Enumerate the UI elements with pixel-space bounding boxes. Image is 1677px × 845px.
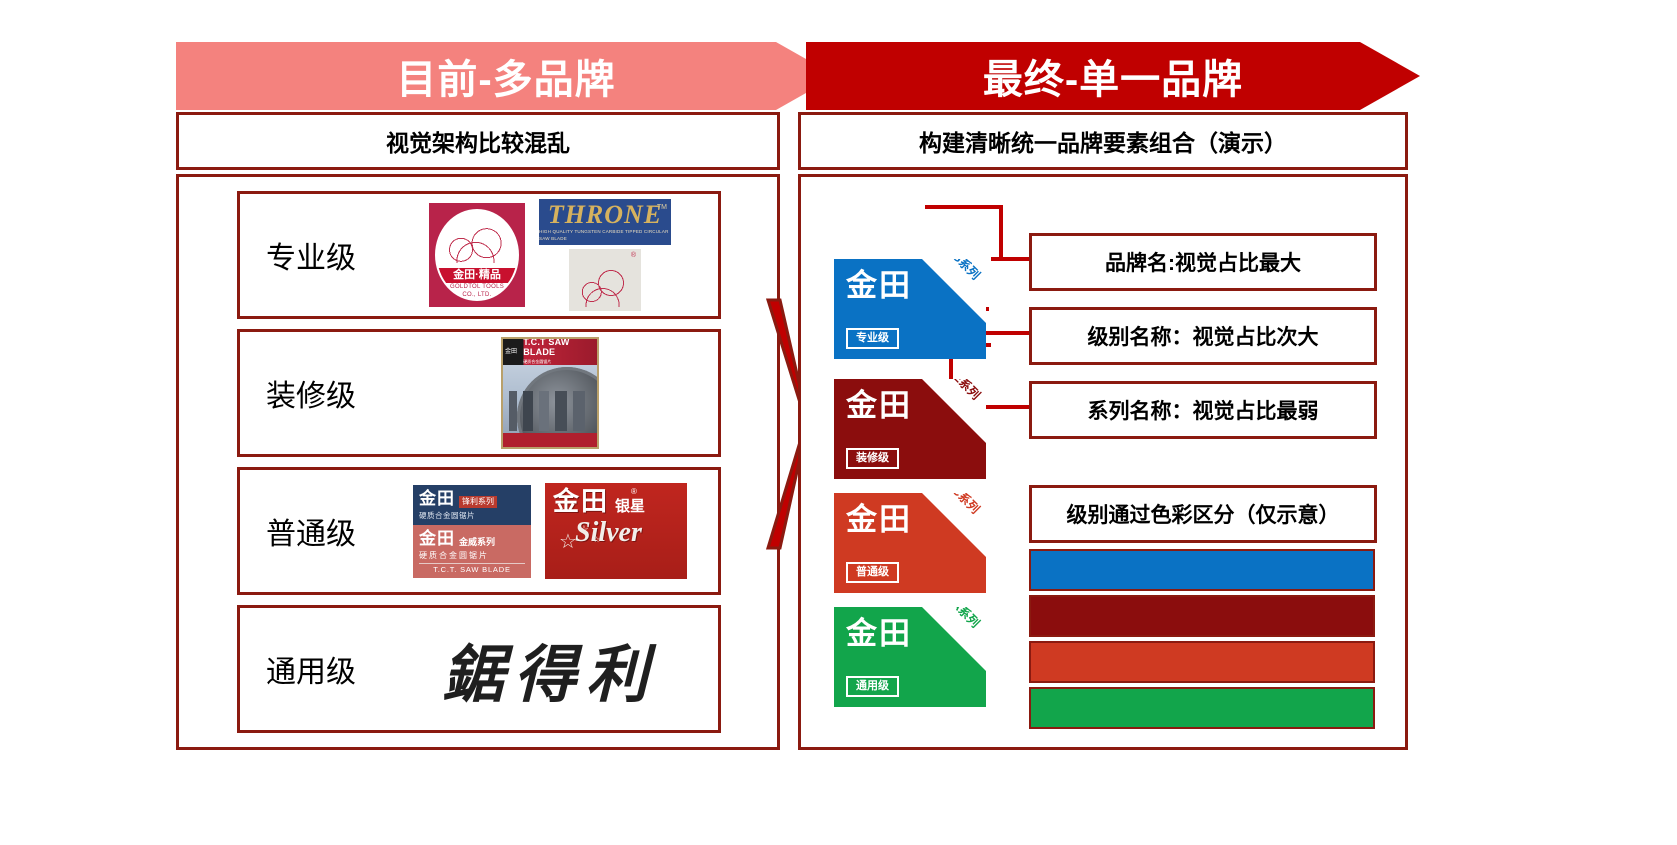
callout-series-name: 系列名称：视觉占比最弱	[1029, 381, 1377, 439]
callout-brand-name: 品牌名:视觉占比最大	[1029, 233, 1377, 291]
brand-card-standard[interactable]: YC系列 金田 普通级	[834, 493, 986, 593]
star-icon: ☆	[559, 529, 577, 554]
throne-tagline: HIGH QUALITY TUNGSTEN CARBIDE TIPPED CIR…	[539, 228, 671, 242]
jintian-blue-label-icon: 金田 锋利系列 硬质合金圆锯片	[413, 485, 531, 525]
grade-row-general: 通用级 鋸得利	[237, 605, 721, 733]
subtitle-bar-right: 构建清晰统一品牌要素组合（演示）	[798, 112, 1408, 170]
brand-card-professional[interactable]: RG系列 金田 专业级	[834, 259, 986, 359]
star-icon: ☆	[593, 535, 600, 544]
brand-card-decoration[interactable]: ZE系列 金田 装修级	[834, 379, 986, 479]
callout-grade-name: 级别名称：视觉占比次大	[1029, 307, 1377, 365]
grade-label-decoration: 装修级	[240, 371, 382, 415]
silver-mark: 金田	[553, 489, 609, 516]
callout-color-legend-title: 级别通过色彩区分（仅示意）	[1029, 485, 1377, 543]
silver-wordmark: Silver	[575, 518, 679, 548]
jintian-blue-sub: 硬质合金圆锯片	[419, 510, 525, 521]
grade-media-standard: 金田 锋利系列 硬质合金圆锯片 金田 金威系列 硬质合金圆锯片 T.C.T. S…	[382, 470, 718, 592]
banner-left-label: 目前-多品牌	[396, 47, 615, 105]
star-icon: ☆	[579, 523, 589, 536]
tct-package-cn: 金田	[503, 349, 523, 356]
goldtol-badge-icon: 金田·精品 GOLDTOL TOOLS CO., LTD.	[429, 203, 525, 307]
throne-wordmark: THRONE	[548, 202, 662, 228]
jintian-red-mark: 金田	[419, 530, 455, 548]
jintian-blue-series: 锋利系列	[459, 496, 497, 508]
tct-package-subcn: 硬质合金圆锯片	[523, 357, 597, 367]
grade-label-professional: 专业级	[240, 233, 382, 277]
brand-card-badge-general: 通用级	[846, 676, 899, 697]
silver-registered-symbol: ®	[631, 487, 637, 496]
color-legend-title-label: 级别通过色彩区分（仅示意）	[1067, 499, 1340, 529]
banner-current-multibrand: 目前-多品牌	[176, 42, 836, 110]
grade-row-standard: 普通级 金田 锋利系列 硬质合金圆锯片 金田 金威系列	[237, 467, 721, 595]
goldtol-cn-text: 金田·精品	[437, 268, 517, 283]
grade-media-professional: 金田·精品 GOLDTOL TOOLS CO., LTD. TM THRONE …	[382, 194, 718, 316]
banner-right-label: 最终-单一品牌	[983, 47, 1243, 105]
judeli-calligraphy-logo: 鋸得利	[442, 624, 658, 714]
grade-label-general: 通用级	[240, 647, 382, 691]
color-swatch-professional	[1029, 549, 1375, 591]
jintian-red-series: 金威系列	[459, 535, 495, 548]
subtitle-left-label: 视觉架构比较混乱	[386, 124, 570, 158]
wave-graphic	[437, 219, 517, 263]
callout-grade-name-label: 级别名称：视觉占比次大	[1088, 321, 1319, 351]
grade-label-standard: 普通级	[240, 509, 382, 553]
silver-logo-icon: ® 金田 银星 ☆ ☆ ☆ Silver	[545, 483, 687, 579]
throne-trademark: TM	[657, 204, 667, 211]
brand-card-badge-standard: 普通级	[846, 562, 899, 583]
grade-media-decoration: 金田 T.C.T SAW BLADE 硬质合金圆锯片	[382, 332, 718, 454]
jintian-blue-mark: 金田	[419, 490, 455, 508]
brand-card-general[interactable]: XA系列 金田 通用级	[834, 607, 986, 707]
brand-card-badge-decoration: 装修级	[846, 448, 899, 469]
jintian-label-stack: 金田 锋利系列 硬质合金圆锯片 金田 金威系列 硬质合金圆锯片 T.C.T. S…	[413, 485, 531, 578]
left-panel: 专业级 金田·精品 GOLDTOL TOOLS CO., LTD. TM THR…	[176, 174, 780, 750]
wave-mark-icon: ®	[569, 249, 641, 311]
tct-package-image: 金田 T.C.T SAW BLADE 硬质合金圆锯片	[501, 337, 599, 449]
grade-row-professional: 专业级 金田·精品 GOLDTOL TOOLS CO., LTD. TM THR…	[237, 191, 721, 319]
color-swatch-standard	[1029, 641, 1375, 683]
subtitle-bar-left: 视觉架构比较混乱	[176, 112, 780, 170]
subtitle-right-label: 构建清晰统一品牌要素组合（演示）	[919, 124, 1287, 158]
city-skyline-graphic	[503, 391, 597, 431]
silver-cn-series: 银星	[615, 498, 645, 516]
wave-registered-symbol: ®	[631, 252, 636, 259]
grade-media-general: 鋸得利	[382, 608, 718, 730]
slide-canvas: 目前-多品牌 最终-单一品牌 视觉架构比较混乱 构建清晰统一品牌要素组合（演示）…	[0, 0, 1677, 845]
goldtol-en-line2: CO., LTD.	[462, 291, 491, 299]
right-panel: RG系列 金田 专业级 ZE系列 金田 装修级 YC系列 金田 普通级 XA系列…	[798, 174, 1408, 750]
jintian-red-label-icon: 金田 金威系列 硬质合金圆锯片 T.C.T. SAW BLADE	[413, 525, 531, 578]
goldtol-en-line1: GOLDTOL TOOLS	[450, 283, 504, 291]
color-swatch-decoration	[1029, 595, 1375, 637]
banner-final-singlebrand: 最终-单一品牌	[806, 42, 1420, 110]
color-swatch-general	[1029, 687, 1375, 729]
callout-series-name-label: 系列名称：视觉占比最弱	[1088, 395, 1319, 425]
throne-logo-icon: TM THRONE HIGH QUALITY TUNGSTEN CARBIDE …	[539, 199, 671, 245]
jintian-red-en: T.C.T. SAW BLADE	[419, 563, 525, 574]
brand-card-badge-professional: 专业级	[846, 328, 899, 349]
tct-package-en1: T.C.T	[523, 337, 546, 347]
callout-brand-name-label: 品牌名:视觉占比最大	[1105, 247, 1301, 277]
jintian-red-sub: 硬质合金圆锯片	[419, 550, 525, 561]
grade-row-decoration: 装修级 金田 T.C.T SAW BLADE 硬质合金圆锯片	[237, 329, 721, 457]
